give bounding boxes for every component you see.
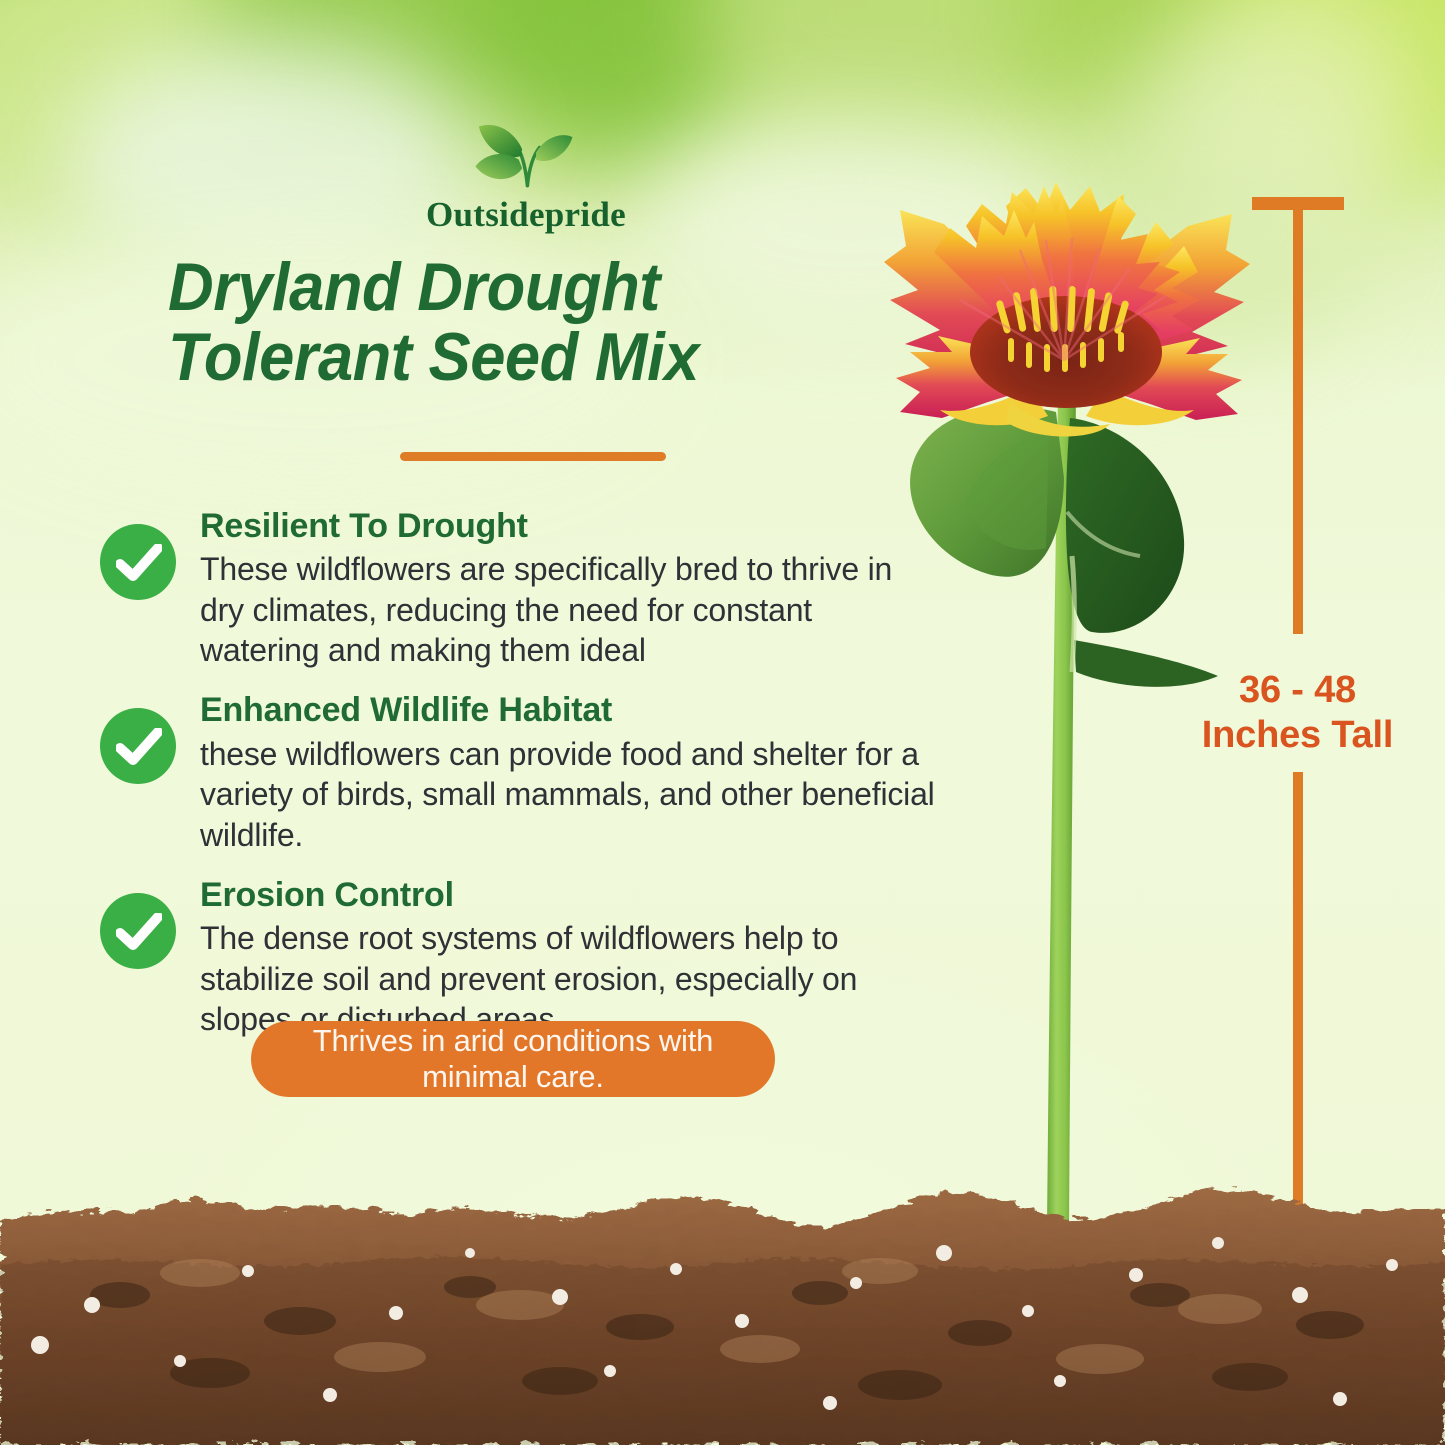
callout-banner: Thrives in arid conditions with minimal …: [251, 1021, 775, 1097]
height-measure-label: 36 - 48 Inches Tall: [1160, 668, 1435, 758]
soil-bed: [0, 1145, 1445, 1445]
check-circle-icon: [100, 893, 176, 969]
feature-heading: Enhanced Wildlife Habitat: [200, 690, 940, 731]
feature-heading: Resilient To Drought: [200, 506, 940, 547]
height-range: 36 - 48: [1239, 669, 1356, 711]
feature-body: these wildflowers can provide food and s…: [200, 734, 940, 855]
feature-list: Resilient To Drought These wildflowers a…: [100, 500, 940, 1053]
feature-item: Erosion Control The dense root systems o…: [100, 869, 940, 1039]
infographic-canvas: Outsidepride Dryland Drought Tolerant Se…: [0, 0, 1445, 1445]
title-line-2: Tolerant Seed Mix: [168, 322, 875, 392]
check-circle-icon: [100, 708, 176, 784]
feature-heading: Erosion Control: [200, 875, 940, 916]
check-circle-icon: [100, 524, 176, 600]
feature-item: Resilient To Drought These wildflowers a…: [100, 500, 940, 670]
feature-item: Enhanced Wildlife Habitat these wildflow…: [100, 684, 940, 854]
height-measure-line-upper: [1293, 197, 1303, 634]
title-line-1: Dryland Drought: [168, 249, 660, 325]
feature-body: These wildflowers are specifically bred …: [200, 549, 940, 670]
height-unit: Inches Tall: [1202, 714, 1393, 756]
page-title: Dryland Drought Tolerant Seed Mix: [168, 252, 875, 392]
brand-name: Outsidepride: [376, 197, 676, 232]
brand-logo: Outsidepride: [376, 118, 676, 248]
leaf-sprout-icon: [465, 118, 586, 196]
title-underline-rule: [400, 452, 666, 461]
